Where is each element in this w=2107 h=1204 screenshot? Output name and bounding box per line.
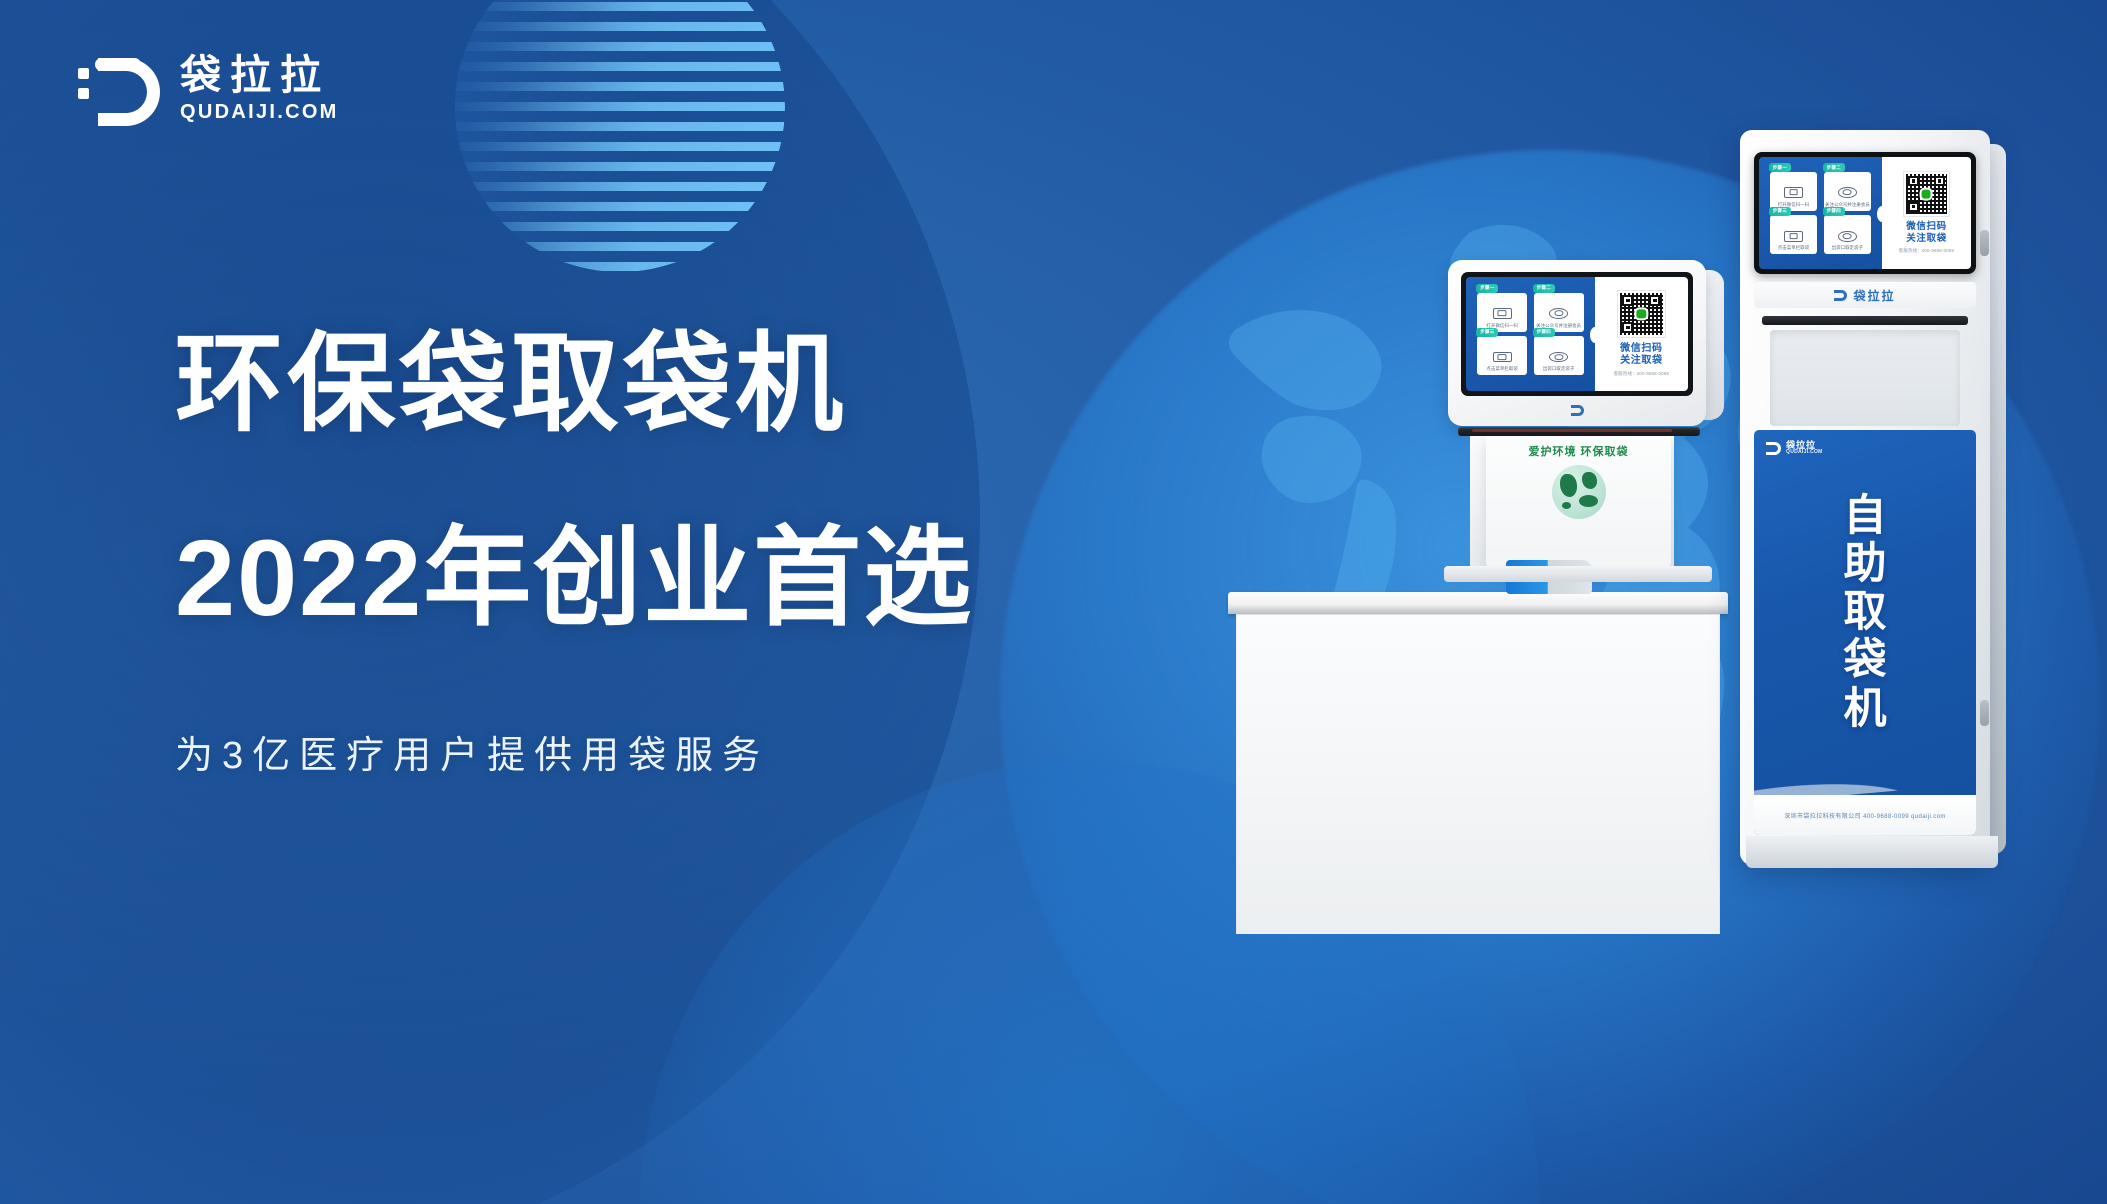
kiosk-brand-strip: 袋拉拉 — [1754, 282, 1976, 308]
wechat-qr-code[interactable] — [1904, 172, 1948, 216]
bag-circle-icon — [1838, 231, 1856, 242]
kiosk-graphic-panel: 袋拉拉 QUDAIJI.COM 自 助 取 袋 机 深圳市袋拉拉科技有限公司 4… — [1754, 430, 1976, 835]
step-card[interactable]: 步骤三 点击菜单栏取袋 — [1477, 336, 1527, 375]
screen-steps-panel: 步骤一 打开微信扫一扫 步骤二 关注公众号并注册会员 步骤三 — [1759, 157, 1882, 269]
qudaiji-d-logo-icon — [1571, 405, 1584, 416]
member-card-icon — [1838, 187, 1856, 198]
headline-line-1: 环保袋取袋机 — [175, 330, 1175, 438]
vertical-char: 袋 — [1844, 636, 1887, 684]
qr-subtitle: 客服热线：400-9688-0099 — [1614, 371, 1669, 377]
hero-copy-block: 环保袋取袋机 2022年创业首选 为3亿医疗用户提供用袋服务 — [175, 330, 1175, 779]
step-tag: 步骤二 — [1533, 284, 1555, 293]
kiosk-vertical-title: 自 助 取 袋 机 — [1754, 492, 1976, 733]
vertical-char: 取 — [1844, 588, 1887, 636]
step-text: 点击菜单栏取袋 — [1778, 245, 1809, 251]
bag-circle-icon — [1549, 352, 1568, 363]
promo-banner: 袋拉拉 QUDAIJI.COM 环保袋取袋机 2022年创业首选 为3亿医疗用户… — [0, 0, 2107, 1204]
qr-subtitle: 客服热线：400-9688-0099 — [1899, 248, 1954, 254]
mini-machine-base-plate — [1444, 566, 1712, 582]
screen-steps-panel: 步骤一 打开微信扫一扫 步骤二 关注公众号并注册会员 步骤三 — [1466, 277, 1595, 391]
mini-machine-front-body: 爱护环境 环保取袋 — [1486, 436, 1671, 568]
step-card[interactable]: 步骤二 关注公众号并注册会员 — [1534, 293, 1584, 332]
step-tag: 步骤四 — [1533, 328, 1555, 337]
step-tag: 步骤三 — [1476, 328, 1498, 337]
kiosk-side-button-bottom[interactable] — [1980, 700, 1989, 726]
mini-machine-screen[interactable]: 步骤一 打开微信扫一扫 步骤二 关注公众号并注册会员 步骤三 — [1461, 272, 1693, 396]
qr-title: 微信扫码 关注取袋 — [1906, 221, 1946, 244]
qudaiji-d-logo-icon — [1834, 290, 1847, 301]
mini-machine-head: 步骤一 打开微信扫一扫 步骤二 关注公众号并注册会员 步骤三 — [1448, 260, 1706, 426]
wechat-qr-code[interactable] — [1618, 291, 1664, 337]
step-text: 出袋口取走袋子 — [1543, 366, 1574, 372]
hero-subtitle: 为3亿医疗用户提供用袋服务 — [175, 724, 1175, 779]
striped-globe-decoration — [455, 0, 785, 272]
kiosk-bag-slot — [1762, 316, 1968, 325]
scan-frame-icon — [1493, 308, 1512, 319]
brand-domain: QUDAIJI.COM — [180, 101, 339, 124]
vertical-char: 自 — [1844, 492, 1887, 540]
step-card[interactable]: 步骤一 打开微信扫一扫 — [1477, 293, 1527, 332]
counter-desk — [1228, 592, 1728, 934]
step-card[interactable]: 步骤四 出袋口取走袋子 — [1534, 336, 1584, 375]
step-tag: 步骤四 — [1823, 207, 1845, 216]
brand-name-cn: 袋拉拉 — [180, 54, 339, 97]
headline-line-2: 2022年创业首选 — [175, 524, 1175, 632]
member-card-icon — [1549, 308, 1568, 319]
mini-machine-brand-strip — [1461, 400, 1693, 420]
step-card[interactable]: 步骤四 出袋口取走袋子 — [1824, 215, 1872, 254]
wechat-logo-icon — [1922, 189, 1931, 198]
panel-brand-logo: 袋拉拉 QUDAIJI.COM — [1766, 440, 1823, 456]
kiosk-brand-name: 袋拉拉 — [1853, 287, 1895, 304]
qudaiji-d-logo-icon — [1766, 442, 1781, 455]
panel-brand-en: QUDAIJI.COM — [1786, 450, 1823, 456]
scan-frame-icon — [1784, 187, 1802, 198]
panel-footer-note: 深圳市袋拉拉科技有限公司 400-9688-0099 qudaiji.com — [1784, 811, 1946, 820]
kiosk-screen[interactable]: 步骤一 打开微信扫一扫 步骤二 关注公众号并注册会员 步骤三 — [1754, 152, 1976, 274]
step-tag: 步骤二 — [1823, 163, 1845, 172]
kiosk-base-foot — [1746, 836, 1998, 868]
step-text: 出袋口取走袋子 — [1832, 245, 1863, 251]
countertop-bag-dispenser: 步骤一 打开微信扫一扫 步骤二 关注公众号并注册会员 步骤三 — [1448, 260, 1728, 610]
step-card[interactable]: 步骤一 打开微信扫一扫 — [1770, 172, 1818, 211]
screen-qr-panel: 微信扫码 关注取袋 客服热线：400-9688-0099 — [1882, 157, 1971, 269]
step-tag: 步骤三 — [1769, 207, 1791, 216]
eco-slogan: 爱护环境 环保取袋 — [1486, 443, 1671, 459]
step-tag: 步骤一 — [1769, 163, 1791, 172]
qrcode-icon — [1784, 231, 1802, 242]
brand-logo[interactable]: 袋拉拉 QUDAIJI.COM — [78, 52, 339, 126]
kiosk-dispense-chute — [1770, 330, 1960, 426]
wechat-logo-icon — [1637, 309, 1646, 318]
qrcode-icon — [1493, 352, 1512, 363]
kiosk-shell: 步骤一 打开微信扫一扫 步骤二 关注公众号并注册会员 步骤三 — [1740, 130, 1990, 865]
counter-front-panel — [1236, 614, 1720, 934]
product-scene: 步骤一 打开微信扫一扫 步骤二 关注公众号并注册会员 步骤三 — [1180, 130, 2080, 1130]
earth-globe-icon — [1552, 465, 1606, 519]
panel-footer-bar: 深圳市袋拉拉科技有限公司 400-9688-0099 qudaiji.com — [1754, 795, 1976, 835]
mini-machine-bag-slot — [1458, 427, 1700, 436]
step-tag: 步骤一 — [1476, 284, 1498, 293]
vertical-char: 助 — [1844, 540, 1887, 588]
step-card[interactable]: 步骤二 关注公众号并注册会员 — [1824, 172, 1872, 211]
step-text: 点击菜单栏取袋 — [1486, 366, 1517, 372]
step-card[interactable]: 步骤三 点击菜单栏取袋 — [1770, 215, 1818, 254]
qr-title: 微信扫码 关注取袋 — [1620, 343, 1662, 367]
kiosk-side-button-top[interactable] — [1980, 230, 1989, 256]
screen-qr-panel: 微信扫码 关注取袋 客服热线：400-9688-0099 — [1595, 277, 1688, 391]
standing-bag-dispenser-kiosk: 步骤一 打开微信扫一扫 步骤二 关注公众号并注册会员 步骤三 — [1740, 130, 2010, 1130]
qudaiji-d-logo-icon — [78, 52, 164, 126]
